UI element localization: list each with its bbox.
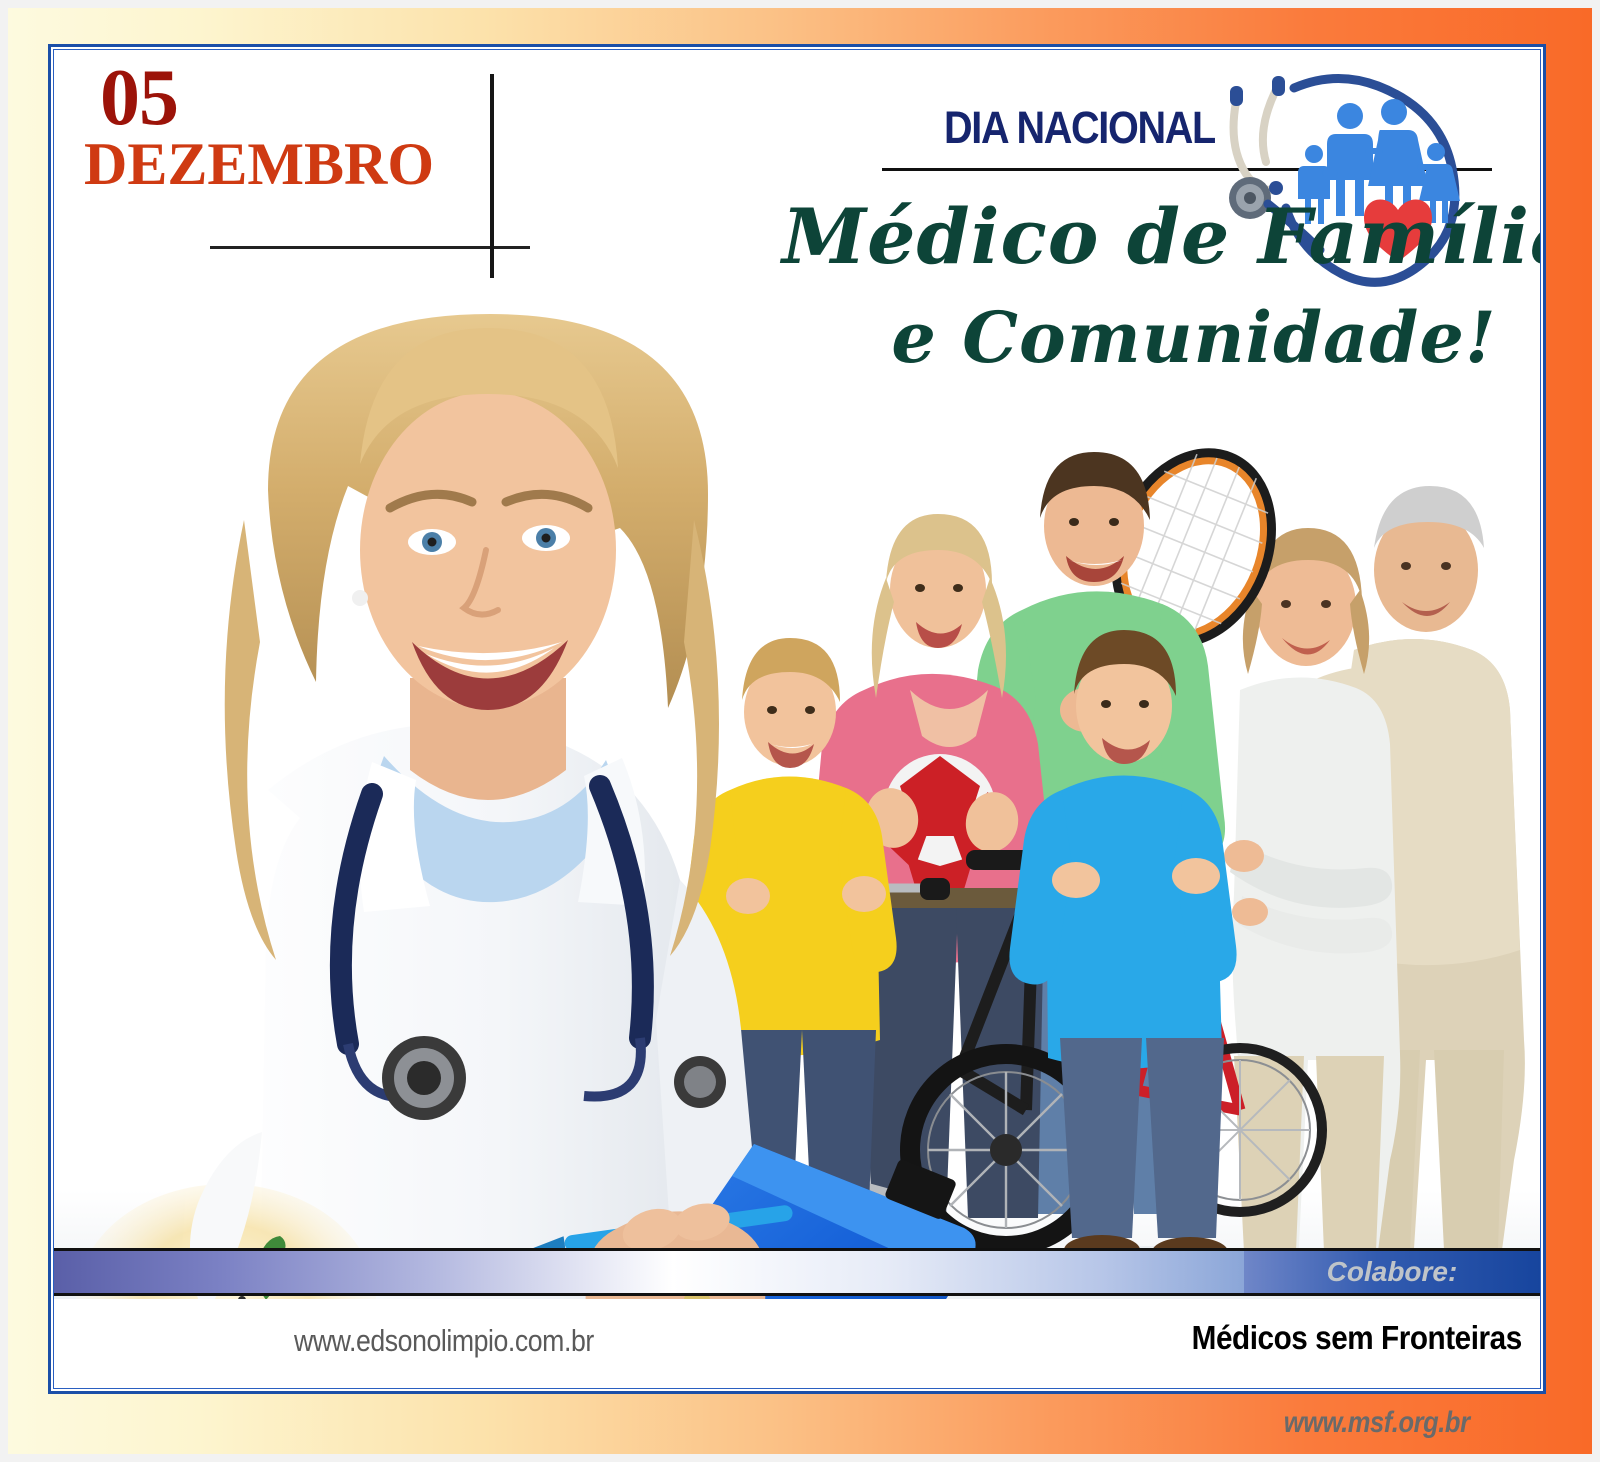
date-month: DEZEMBRO — [84, 134, 504, 194]
partner-name-text: Médicos sem Fronteiras — [1192, 1319, 1522, 1357]
site-url-text[interactable]: www.edsonolimpio.com.br — [294, 1323, 594, 1359]
collaborate-band: Colabore: — [1244, 1248, 1540, 1296]
footer-gradient-band — [54, 1248, 1244, 1296]
date-horizontal-rule — [210, 246, 530, 249]
footer: Colabore: www.edsonolimpio.com.br Médico… — [54, 1248, 1540, 1388]
poster-root: 05 DEZEMBRO DIA NACIONAL — [0, 0, 1600, 1462]
footer-bottom-bar: www.edsonolimpio.com.br Médicos sem Fron… — [54, 1299, 1540, 1388]
poster-canvas: 05 DEZEMBRO DIA NACIONAL — [54, 50, 1540, 1388]
collaborate-label: Colabore: — [1327, 1256, 1458, 1288]
kicker-dia-nacional: DIA NACIONAL — [944, 102, 1215, 154]
partner-url-text[interactable]: www.msf.org.br — [1284, 1406, 1470, 1440]
title-line-1: Médico de Família — [782, 192, 1540, 281]
title-area: DIA NACIONAL — [754, 64, 1534, 414]
date-vertical-rule — [490, 74, 494, 278]
title-line-2: e Comunidade! — [844, 296, 1540, 379]
date-day: 05 — [100, 60, 504, 136]
date-block: 05 DEZEMBRO — [84, 60, 504, 280]
